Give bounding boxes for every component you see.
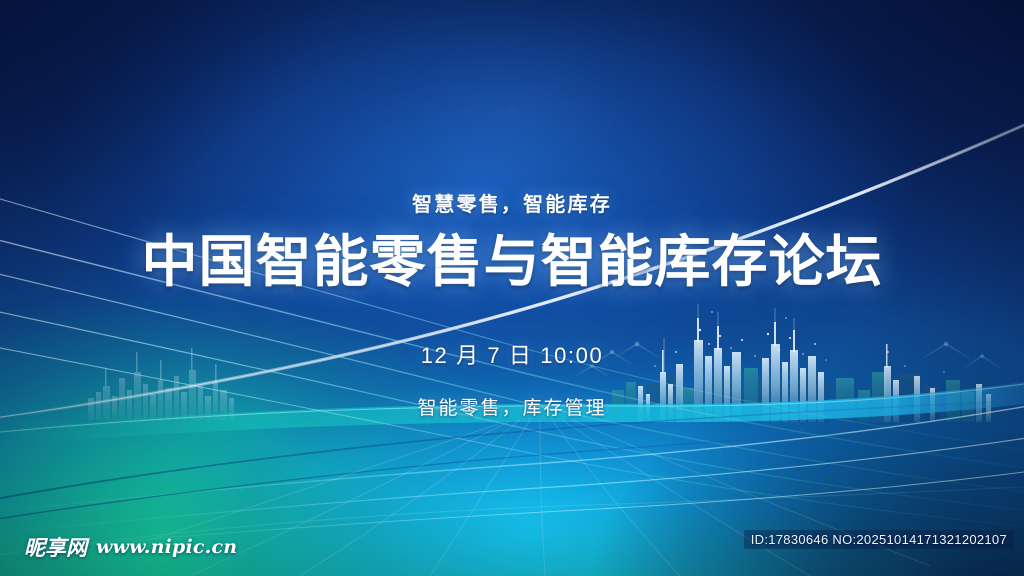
- page-title: 中国智能零售与智能库存论坛: [0, 232, 1024, 292]
- poster-canvas: 智慧零售，智能库存 中国智能零售与智能库存论坛 12 月 7 日 10:00 智…: [0, 0, 1024, 576]
- asset-id-label: ID:17830646 NO:20251014171321202107: [744, 530, 1014, 549]
- poster-text-block: 智慧零售，智能库存 中国智能零售与智能库存论坛 12 月 7 日 10:00 智…: [0, 0, 1024, 420]
- poster-kicker: 智慧零售，智能库存: [0, 188, 1024, 217]
- event-datetime: 12 月 7 日 10:00: [0, 338, 1024, 370]
- nipic-logo: 昵享网: [24, 532, 87, 562]
- poster-tagline: 智能零售，库存管理: [0, 393, 1024, 420]
- watermark: 昵享网 www.nipic.cn: [24, 532, 237, 562]
- nipic-url-text: www.nipic.cn: [96, 536, 237, 558]
